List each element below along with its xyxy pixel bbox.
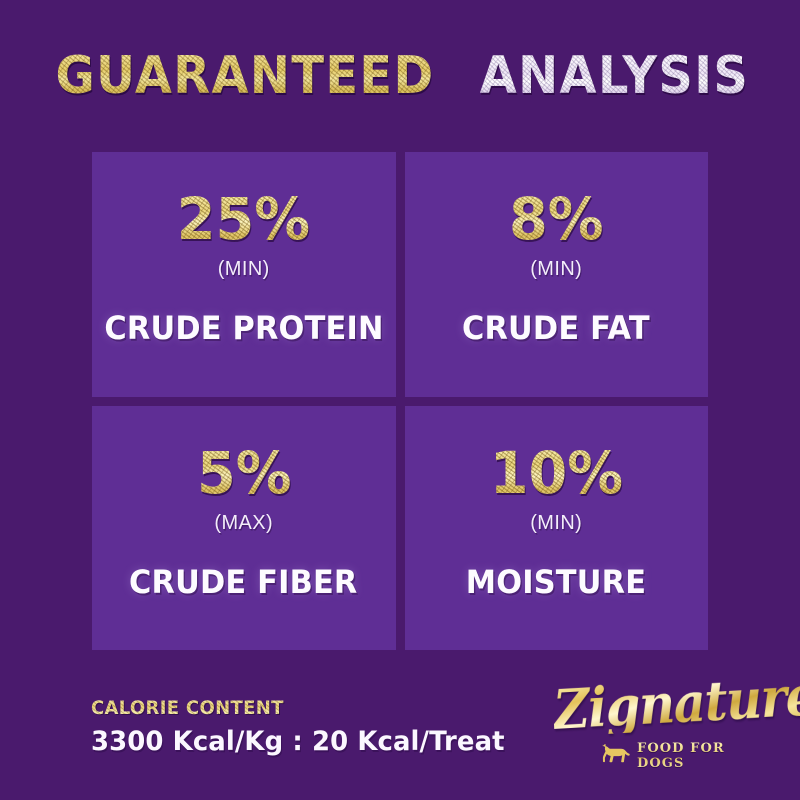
calorie-content-block: CALORIE CONTENT 3300 Kcal/Kg : 20 Kcal/T… (91, 697, 522, 757)
brand-wordmark: Zignature (552, 668, 800, 737)
nutrient-grid: 25% (MIN) CRUDE PROTEIN 8% (MIN) CRUDE F… (92, 152, 708, 650)
nutrient-qualifier: (MIN) (530, 512, 582, 535)
nutrient-cell-crude-protein: 25% (MIN) CRUDE PROTEIN (92, 152, 396, 397)
nutrient-qualifier: (MAX) (214, 512, 273, 535)
calorie-content-label-row: CALORIE CONTENT (91, 697, 522, 719)
nutrient-value: 25% (177, 190, 310, 248)
dog-silhouette-icon (600, 744, 630, 768)
nutrient-qualifier: (MIN) (218, 258, 270, 281)
nutrient-cell-crude-fat: 8% (MIN) CRUDE FAT (405, 152, 709, 397)
nutrient-value: 10% (490, 444, 623, 502)
page-title: GUARANTEEDANALYSIS (0, 50, 800, 102)
guaranteed-analysis-panel: GUARANTEEDANALYSIS 25% (MIN) CRUDE PROTE… (0, 0, 800, 800)
nutrient-qualifier: (MIN) (530, 258, 582, 281)
brand-logo: Zignature FOOD FOR DOGS (552, 683, 762, 775)
nutrient-label: CRUDE FAT (462, 309, 650, 347)
nutrient-label: CRUDE PROTEIN (104, 309, 383, 347)
nutrient-label: MOISTURE (466, 563, 646, 601)
nutrient-label: CRUDE FIBER (129, 563, 358, 601)
nutrient-cell-crude-fiber: 5% (MAX) CRUDE FIBER (92, 406, 396, 651)
nutrient-value: 8% (509, 190, 604, 248)
nutrient-cell-moisture: 10% (MIN) MOISTURE (405, 406, 709, 651)
calorie-content-value: 3300 Kcal/Kg : 20 Kcal/Treat (91, 726, 505, 757)
brand-tagline-row: FOOD FOR DOGS (600, 741, 762, 771)
title-word-analysis: ANALYSIS (480, 50, 750, 102)
title-word-guaranteed: GUARANTEED (55, 50, 434, 102)
nutrient-value: 5% (196, 444, 291, 502)
calorie-content-label: CALORIE CONTENT (91, 697, 284, 719)
brand-tagline: FOOD FOR DOGS (637, 741, 762, 771)
